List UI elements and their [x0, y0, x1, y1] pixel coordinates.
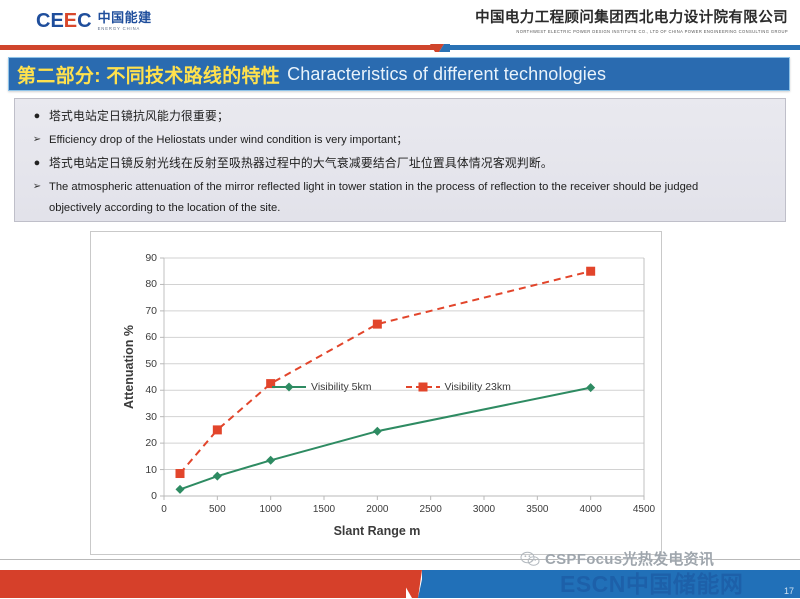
chart-plot-area [91, 232, 663, 556]
header-stripe-red [0, 45, 436, 50]
watermark-escn: ESCN中国储能网 [560, 565, 743, 599]
bullet-item-4: ➢ The atmospheric attenuation of the mir… [25, 179, 775, 195]
ceec-logo-mark: C E E C [36, 11, 91, 31]
header-stripe-notch-icon [430, 44, 450, 52]
bullet-dot-icon: ● [25, 108, 49, 124]
footer-notch-icon [396, 568, 436, 598]
organization-name-en: NORTHWEST ELECTRIC POWER DESIGN INSTITUT… [475, 29, 788, 34]
logo-letter-e2: E [64, 11, 76, 31]
chart-legend-label: Visibility 5km [311, 381, 372, 393]
bullet-dot-icon: ● [25, 155, 49, 171]
chart-legend-item-1: Visibility 5km [272, 381, 372, 393]
logo-company-en: ENERGY CHINA [98, 26, 152, 31]
organization-block: 中国电力工程顾问集团西北电力设计院有限公司 NORTHWEST ELECTRIC… [475, 10, 788, 34]
header-stripe-blue [444, 45, 800, 50]
chart-legend-swatch-icon [406, 382, 440, 392]
slide-header: C E E C 中国能建 ENERGY CHINA 中国电力工程顾问集团西北电力… [0, 0, 800, 40]
bullet-content-box: ● 塔式电站定日镜抗风能力很重要； ➢ Efficiency drop of t… [14, 98, 786, 222]
bullet-item-2: ➢ Efficiency drop of the Heliostats unde… [25, 132, 775, 148]
ceec-logo: C E E C 中国能建 ENERGY CHINA [36, 11, 152, 31]
chart-inner: Attenuation % 0102030405060708090 050010… [91, 232, 663, 556]
bullet-text-1: 塔式电站定日镜抗风能力很重要； [49, 108, 229, 125]
organization-name-cn: 中国电力工程顾问集团西北电力设计院有限公司 [475, 10, 788, 27]
bullet-text-2: Efficiency drop of the Heliostats under … [49, 132, 408, 148]
bullet-item-1: ● 塔式电站定日镜抗风能力很重要； [25, 108, 775, 125]
chart-legend-item-2: Visibility 23km [406, 381, 511, 393]
bullet-text-3: 塔式电站定日镜反射光线在反射至吸热器过程中的大气衰减要结合厂址位置具体情况客观判… [49, 155, 553, 172]
logo-letter-e1: E [50, 11, 62, 31]
section-title-en: Characteristics of different technologie… [287, 64, 606, 85]
logo-company-cn: 中国能建 [98, 11, 152, 25]
chart-legend: Visibility 5kmVisibility 23km [272, 381, 511, 393]
section-title-cn: 第二部分: 不同技术路线的特性 [17, 61, 280, 88]
wechat-icon [520, 551, 540, 567]
bullet-item-3: ● 塔式电站定日镜反射光线在反射至吸热器过程中的大气衰减要结合厂址位置具体情况客… [25, 155, 775, 172]
bullet-text-4-continuation: objectively according to the location of… [49, 200, 775, 216]
bullet-arrow-icon: ➢ [25, 179, 49, 194]
ceec-logo-text: 中国能建 ENERGY CHINA [98, 11, 152, 31]
footer-band-red [0, 570, 406, 598]
chart-legend-swatch-icon [272, 382, 306, 392]
chart-x-axis-title: Slant Range m [91, 524, 663, 538]
section-title-band: 第二部分: 不同技术路线的特性 Characteristics of diffe… [8, 57, 790, 91]
attenuation-chart: Attenuation % 0102030405060708090 050010… [90, 231, 662, 555]
chart-legend-label: Visibility 23km [445, 381, 511, 393]
logo-letter-c2: C [77, 11, 90, 31]
page-number: 17 [784, 586, 794, 596]
bullet-text-4: The atmospheric attenuation of the mirro… [49, 179, 698, 195]
bullet-arrow-icon: ➢ [25, 132, 49, 147]
logo-letter-c1: C [36, 11, 49, 31]
